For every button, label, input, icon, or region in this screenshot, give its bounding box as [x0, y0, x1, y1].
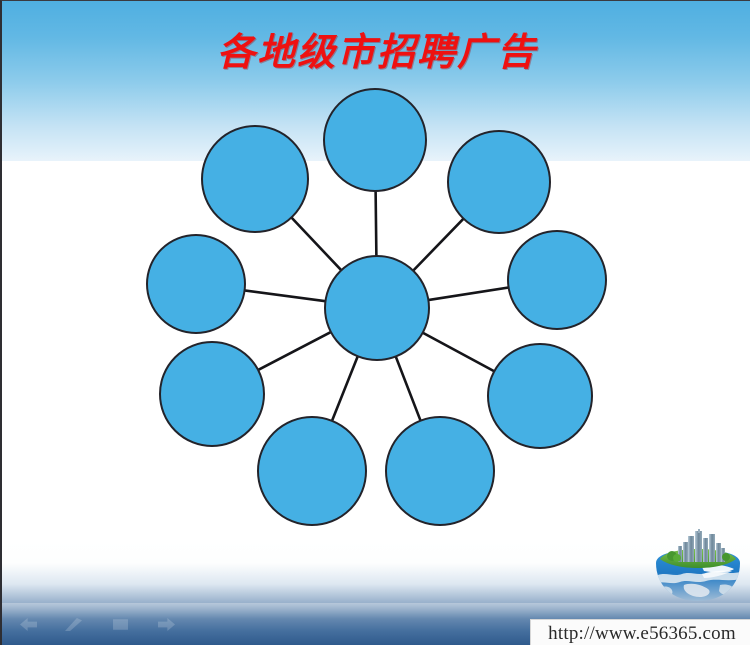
diagram-satellite-node-5[interactable]	[386, 417, 494, 525]
diagram-satellite-node-1[interactable]	[324, 89, 426, 191]
radial-diagram	[2, 1, 750, 645]
connector-line	[376, 190, 377, 257]
globe-city-buildings	[678, 529, 725, 562]
radial-diagram-svg	[2, 1, 750, 645]
diagram-satellite-node-7[interactable]	[160, 342, 264, 446]
connector-line	[257, 332, 332, 371]
diagram-center-node[interactable]	[325, 256, 429, 360]
diagram-satellite-node-6[interactable]	[258, 417, 366, 525]
diagram-satellite-node-8[interactable]	[147, 235, 245, 333]
diagram-satellite-node-4[interactable]	[488, 344, 592, 448]
url-watermark-text: http://www.e56365.com	[548, 623, 736, 645]
slide-canvas: 各地级市招聘广告	[0, 0, 750, 645]
diagram-satellite-node-2[interactable]	[448, 131, 550, 233]
connector-line	[412, 218, 464, 271]
url-watermark: http://www.e56365.com	[530, 619, 750, 645]
diagram-satellite-node-3[interactable]	[508, 231, 606, 329]
connector-line	[244, 290, 327, 301]
diagram-satellite-node-9[interactable]	[202, 126, 308, 232]
connector-line	[422, 332, 495, 372]
globe-icon	[650, 529, 746, 605]
diagram-nodes	[147, 89, 606, 525]
connector-line	[291, 217, 342, 271]
earth-city-globe-logo	[650, 529, 746, 605]
connector-line	[427, 287, 509, 300]
connector-line	[332, 355, 358, 421]
connector-line	[395, 356, 421, 422]
